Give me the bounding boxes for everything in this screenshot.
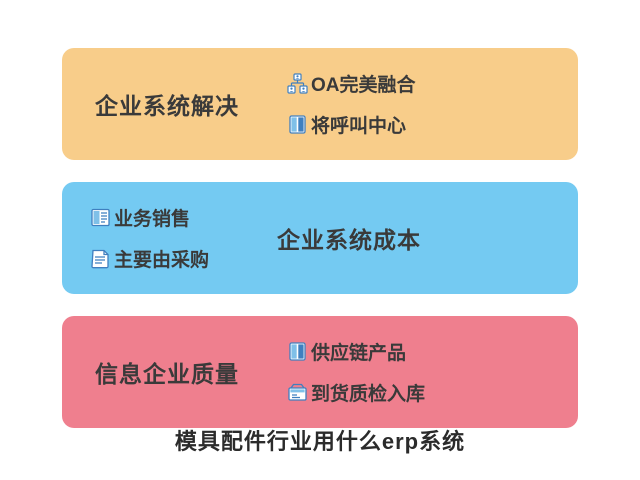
list-item-label: 供应链产品 xyxy=(311,338,406,365)
org-chart-icon xyxy=(287,73,308,94)
band-item-list: OA完美融合 将呼叫中心 xyxy=(287,70,416,138)
band-item-list: 供应链产品 到货质检入库 xyxy=(287,338,425,406)
band-item-list: 业务销售 主要由采购 xyxy=(90,204,209,272)
band-enterprise-system-cost: 业务销售 主要由采购 企业系统成本 xyxy=(62,182,578,294)
inbound-inspection-icon xyxy=(287,382,308,403)
list-item: 业务销售 xyxy=(90,204,209,231)
list-item: OA完美融合 xyxy=(287,70,416,97)
band-enterprise-system-solution: 企业系统解决 OA完 xyxy=(62,48,578,160)
band-title: 信息企业质量 xyxy=(95,355,239,389)
list-item: 主要由采购 xyxy=(90,245,209,272)
infographic-canvas: 企业系统解决 OA完 xyxy=(0,0,640,480)
band-title: 企业系统解决 xyxy=(95,87,239,121)
supply-chain-icon xyxy=(287,341,308,362)
page-caption: 模具配件行业用什么erp系统 xyxy=(0,424,640,456)
band-title: 企业系统成本 xyxy=(277,221,421,255)
list-item-label: 业务销售 xyxy=(114,204,190,231)
document-list-icon xyxy=(90,248,111,269)
list-item-label: 将呼叫中心 xyxy=(311,111,406,138)
book-icon xyxy=(90,207,111,228)
list-item-label: 主要由采购 xyxy=(114,245,209,272)
list-item-label: 到货质检入库 xyxy=(311,379,425,406)
list-item: 到货质检入库 xyxy=(287,379,425,406)
band-information-enterprise-quality: 信息企业质量 供应链产品 xyxy=(62,316,578,428)
list-item: 供应链产品 xyxy=(287,338,425,365)
call-center-icon xyxy=(287,114,308,135)
list-item-label: OA完美融合 xyxy=(311,70,416,97)
list-item: 将呼叫中心 xyxy=(287,111,416,138)
